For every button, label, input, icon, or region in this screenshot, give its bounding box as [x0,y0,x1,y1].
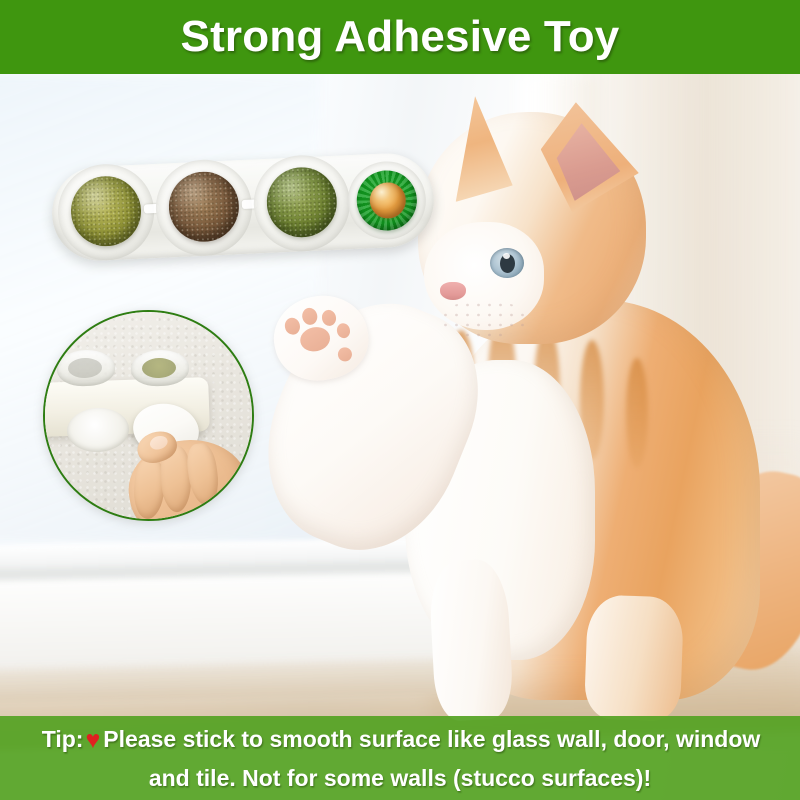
cat-front-leg [428,558,514,722]
green-ball-holder [355,169,418,232]
inset-cup-inner [142,357,177,378]
ball-texture [167,170,240,243]
page-title: Strong Adhesive Toy [181,12,620,62]
ball-texture [69,175,142,248]
cat-eye-glint [503,253,510,259]
catnip-ball-olive [69,175,142,248]
tip-label: Tip: [42,726,84,752]
cat-nose [440,282,466,300]
cat-eye [490,248,524,278]
photo-scene [0,0,800,800]
catnip-ball-green [265,166,338,239]
inset-cup-inner [68,357,103,378]
adhesive-peel-demo [43,310,254,521]
tip-line-2: and tile. Not for some walls (stucco sur… [0,759,800,797]
tip-line-1: Tip:♥Please stick to smooth surface like… [0,720,800,759]
cat-hind-leg [584,594,684,721]
header-banner: Strong Adhesive Toy [0,0,800,74]
product-poster: Strong Adhesive Toy Tip:♥Please stick to… [0,0,800,800]
tip-text-line-1: Please stick to smooth surface like glas… [103,726,760,752]
catnip-toy-tray [50,143,437,272]
tip-banner: Tip:♥Please stick to smooth surface like… [0,716,800,800]
cat-whisker-dots [440,300,528,338]
catnip-ball-brown [167,170,240,243]
heart-icon: ♥ [85,721,100,759]
thumbnail [148,434,169,452]
ball-texture [265,166,338,239]
